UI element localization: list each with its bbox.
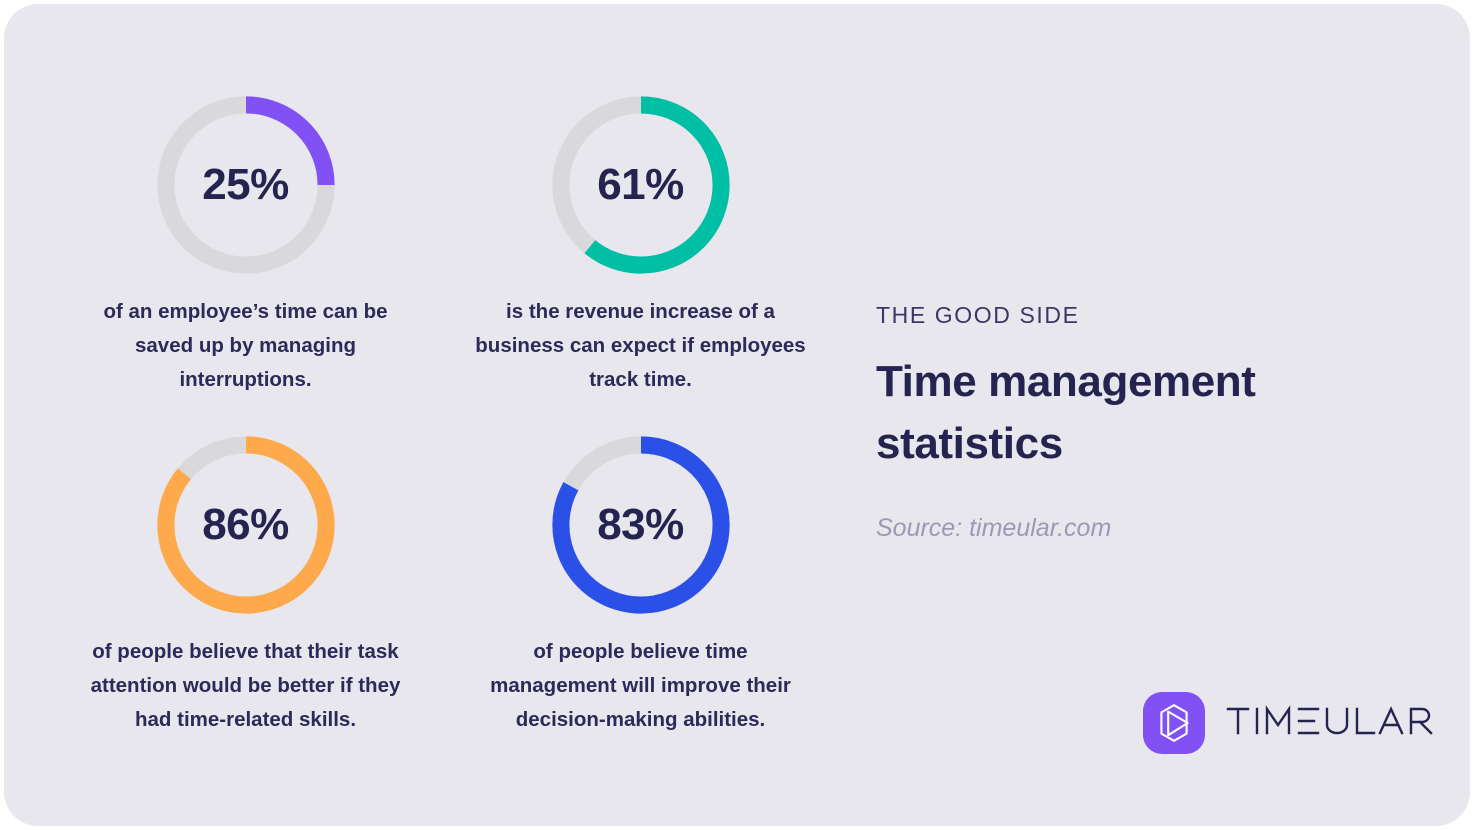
page-title: Time management statistics (876, 351, 1306, 476)
stat-item-25: 25% of an employee’s time can be saved u… (48, 96, 443, 436)
stat-caption-83: of people believe time management will i… (471, 635, 811, 737)
statistics-grid: 25% of an employee’s time can be saved u… (48, 96, 838, 808)
donut-value-25: 25% (157, 96, 335, 274)
stat-caption-86: of people believe that their task attent… (76, 635, 416, 737)
source-attribution: Source: timeular.com (876, 514, 1416, 543)
stat-item-83: 83% of people believe time management wi… (443, 436, 838, 776)
title-panel: THE GOOD SIDE Time management statistics… (876, 302, 1416, 543)
stat-caption-61: is the revenue increase of a business ca… (471, 295, 811, 397)
donut-chart-61: 61% (552, 96, 730, 274)
infographic-card: 25% of an employee’s time can be saved u… (4, 4, 1470, 826)
eyebrow-label: THE GOOD SIDE (876, 302, 1416, 329)
timeular-octagon-play-icon (1143, 692, 1205, 754)
donut-value-83: 83% (552, 436, 730, 614)
timeular-wordmark (1226, 703, 1434, 744)
donut-value-61: 61% (552, 96, 730, 274)
stat-item-61: 61% is the revenue increase of a busines… (443, 96, 838, 436)
donut-chart-83: 83% (552, 436, 730, 614)
timeular-logo (1143, 692, 1434, 754)
stat-caption-25: of an employee’s time can be saved up by… (76, 295, 416, 397)
donut-value-86: 86% (157, 436, 335, 614)
stat-item-86: 86% of people believe that their task at… (48, 436, 443, 776)
donut-chart-86: 86% (157, 436, 335, 614)
donut-chart-25: 25% (157, 96, 335, 274)
